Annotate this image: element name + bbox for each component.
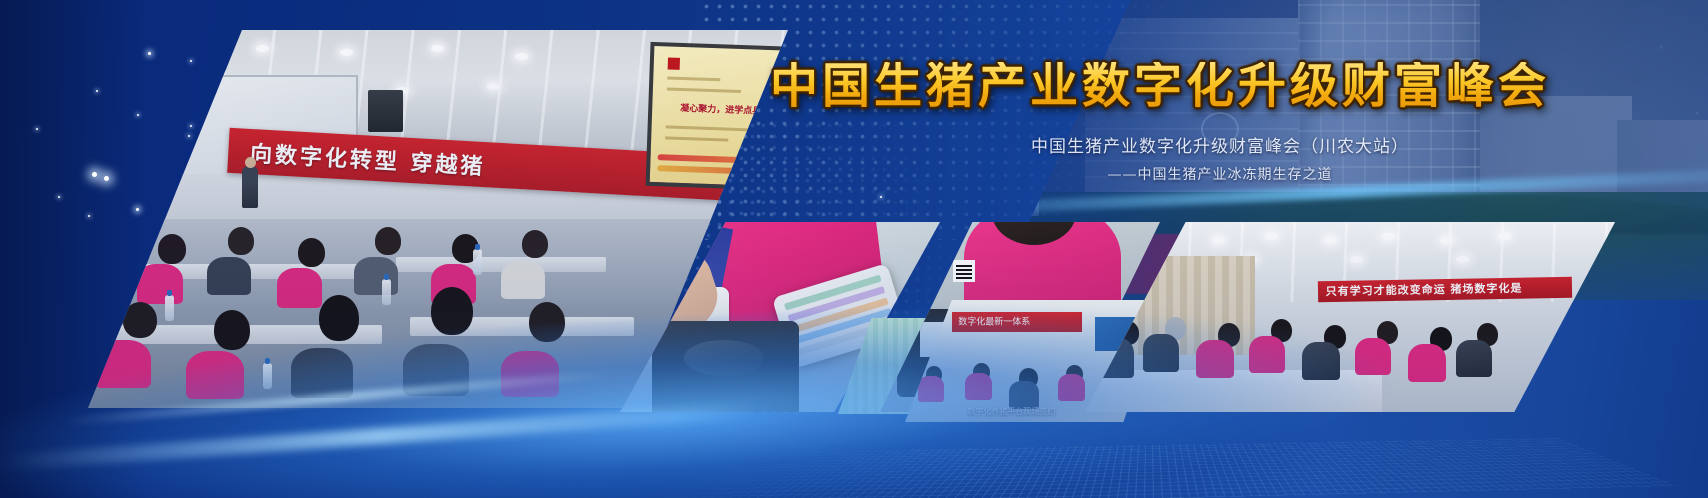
- banner-subtitle-line1: 中国生猪产业数字化升级财富峰会（川农大站）: [900, 132, 1540, 157]
- banner-subtitle-line2: ——中国生猪产业冰冻期生存之道: [900, 164, 1540, 184]
- conference-banner: 向数字化转型 穿越猪 凝心聚力，进学点兵: [0, 0, 1708, 498]
- banner-title: 中国生猪产业数字化升级财富峰会: [770, 62, 1650, 110]
- title-container: 中国生猪产业数字化升级财富峰会: [770, 62, 1650, 110]
- subtitle-container: 中国生猪产业数字化升级财富峰会（川农大站） ——中国生猪产业冰冻期生存之道: [900, 132, 1540, 184]
